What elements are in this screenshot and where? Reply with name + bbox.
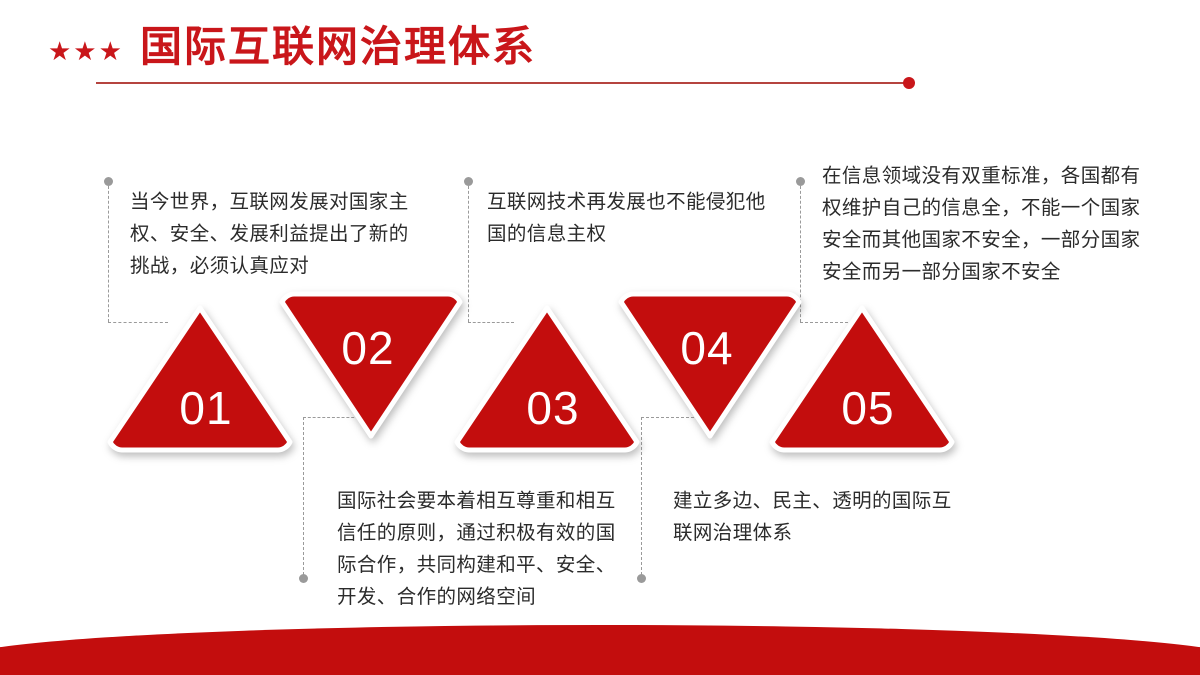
triangle-02-number: 02 <box>341 322 394 374</box>
triangle-02-shape: 02 <box>268 288 474 444</box>
slide-canvas: ★★★ 国际互联网治理体系 01 <box>0 0 1200 675</box>
item-text-04: 建立多边、民主、透明的国际互联网治理体系 <box>673 485 963 549</box>
connector-dot-04 <box>637 574 646 583</box>
triangle-03-number: 03 <box>526 382 579 434</box>
slide-header: ★★★ 国际互联网治理体系 <box>0 0 1200 110</box>
connector-dot-03 <box>464 177 473 186</box>
title-underline <box>96 82 909 84</box>
triangle-01-number: 01 <box>179 382 232 434</box>
stars-decoration: ★★★ <box>48 38 124 64</box>
triangle-04-number: 04 <box>680 322 733 374</box>
triangle-02[interactable]: 02 <box>268 288 474 444</box>
page-title: 国际互联网治理体系 <box>140 22 536 72</box>
triangle-05-number: 05 <box>841 382 894 434</box>
item-text-01: 当今世界，互联网发展对国家主权、安全、发展利益提出了新的挑战，必须认真应对 <box>130 186 420 282</box>
footer-red-band <box>0 625 1200 675</box>
item-text-02: 国际社会要本着相互尊重和相互信任的原则，通过积极有效的国际合作，共同构建和平、安… <box>337 485 627 613</box>
item-text-05: 在信息领域没有双重标准，各国都有权维护自己的信息全，不能一个国家安全而其他国家不… <box>822 160 1142 288</box>
connector-dot-05 <box>796 177 805 186</box>
connector-dot-02 <box>299 574 308 583</box>
title-end-dot-icon <box>903 77 915 89</box>
item-text-03: 互联网技术再发展也不能侵犯他国的信息主权 <box>487 186 767 250</box>
triangle-05[interactable]: 05 <box>762 300 962 456</box>
triangle-05-shape: 05 <box>762 300 962 456</box>
connector-dot-01 <box>104 177 113 186</box>
